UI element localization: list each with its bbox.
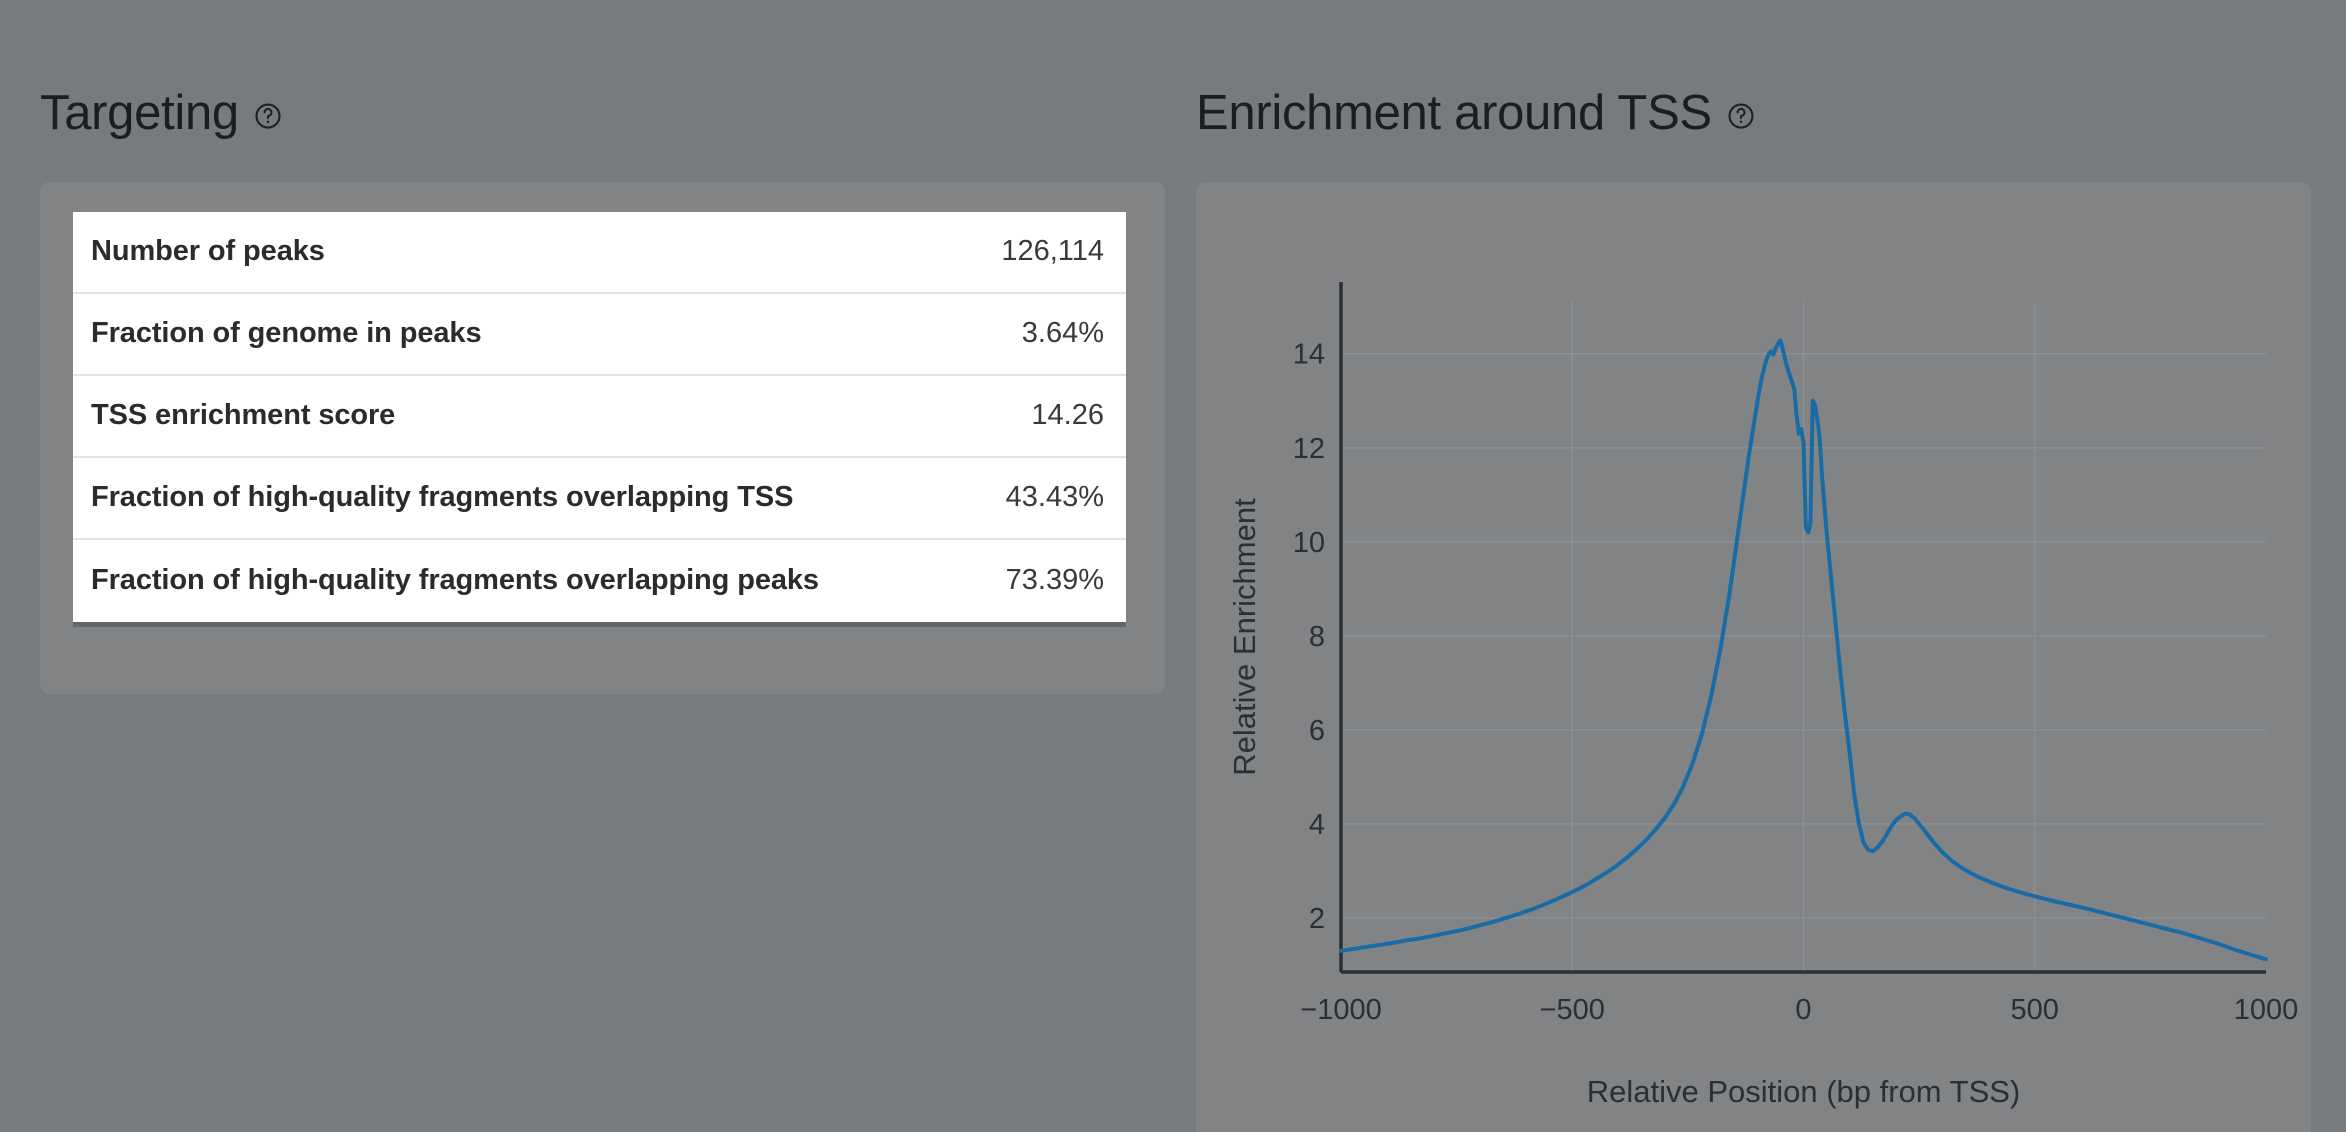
metric-label: Fraction of high-quality fragments overl… xyxy=(91,564,819,597)
y-axis-label: Relative Enrichment xyxy=(1227,498,1262,776)
x-axis-label: Relative Position (bp from TSS) xyxy=(1587,1074,2021,1109)
targeting-metrics-table: Number of peaks 126,114 Fraction of geno… xyxy=(73,212,1126,627)
table-row: Fraction of high-quality fragments overl… xyxy=(73,458,1126,540)
metric-value: 3.64% xyxy=(1022,317,1104,350)
page-title-text: Targeting xyxy=(40,89,239,138)
enrichment-chart-card: 2468101214−1000−50005001000Relative Posi… xyxy=(1196,182,2311,1132)
x-tick-label: 500 xyxy=(2011,994,2059,1026)
table-row: Number of peaks 126,114 xyxy=(73,212,1126,294)
help-circle-icon[interactable] xyxy=(1726,101,1756,131)
targeting-card: Number of peaks 126,114 Fraction of geno… xyxy=(40,182,1165,694)
metric-value: 73.39% xyxy=(1006,564,1104,597)
panel-title-text: Enrichment around TSS xyxy=(1196,89,1712,138)
x-tick-label: 0 xyxy=(1795,994,1811,1026)
metric-value: 14.26 xyxy=(1031,399,1104,432)
y-tick-label: 14 xyxy=(1293,338,1325,370)
report-page: Targeting Number of peaks 126,114 Fracti… xyxy=(0,0,2346,1132)
y-tick-label: 12 xyxy=(1293,432,1325,464)
y-tick-label: 10 xyxy=(1293,526,1325,558)
y-tick-label: 8 xyxy=(1309,620,1325,652)
y-tick-label: 6 xyxy=(1309,715,1325,747)
tss-enrichment-line-chart: 2468101214−1000−50005001000Relative Posi… xyxy=(1196,182,2311,1132)
y-tick-label: 2 xyxy=(1309,903,1325,935)
table-row: TSS enrichment score 14.26 xyxy=(73,376,1126,458)
enrichment-title: Enrichment around TSS xyxy=(1196,89,2311,138)
metric-label: Number of peaks xyxy=(91,235,325,268)
metric-label: Fraction of high-quality fragments overl… xyxy=(91,481,793,514)
x-tick-label: −500 xyxy=(1540,994,1605,1026)
x-tick-label: −1000 xyxy=(1300,994,1381,1026)
metric-label: Fraction of genome in peaks xyxy=(91,317,482,350)
enrichment-panel: Enrichment around TSS 2468101214−1000−50… xyxy=(1196,48,2311,1132)
table-row: Fraction of genome in peaks 3.64% xyxy=(73,294,1126,376)
targeting-panel: Targeting Number of peaks 126,114 Fracti… xyxy=(40,48,1165,694)
x-tick-label: 1000 xyxy=(2234,994,2299,1026)
metric-label: TSS enrichment score xyxy=(91,399,395,432)
metric-value: 43.43% xyxy=(1006,481,1104,514)
targeting-title: Targeting xyxy=(40,89,1165,138)
y-tick-label: 4 xyxy=(1309,809,1325,841)
metric-value: 126,114 xyxy=(1001,235,1104,268)
table-row: Fraction of high-quality fragments overl… xyxy=(73,540,1126,622)
help-circle-icon[interactable] xyxy=(253,101,283,131)
